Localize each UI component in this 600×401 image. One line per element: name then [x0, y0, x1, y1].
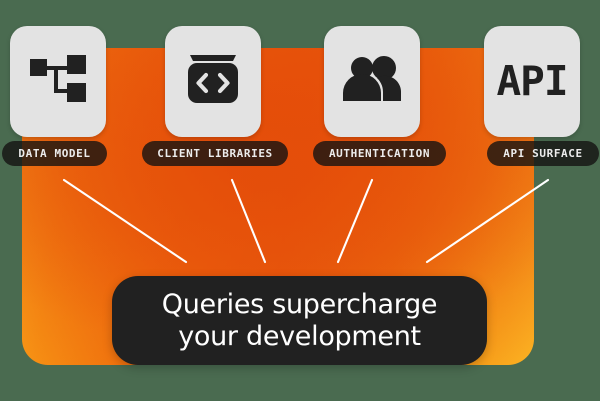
feature-label-api-surface[interactable]: API SURFACE — [487, 141, 599, 166]
feature-label-text: CLIENT LIBRARIES — [157, 147, 273, 160]
headline-card: Queries supercharge your development — [112, 276, 487, 365]
feature-label-text: DATA MODEL — [18, 147, 90, 160]
feature-label-data-model[interactable]: DATA MODEL — [2, 141, 107, 166]
connector-line-api-surface — [427, 180, 548, 262]
connector-line-authentication — [338, 180, 372, 262]
node-graph-icon — [30, 53, 86, 110]
feature-card-api-surface[interactable]: API — [484, 26, 580, 137]
feature-card-authentication[interactable] — [324, 26, 420, 137]
headline-line-2: your development — [178, 321, 421, 352]
feature-label-client-libraries[interactable]: CLIENT LIBRARIES — [142, 141, 288, 166]
diagram-canvas: API DATA MODEL CLIENT LIBRARIES AUTHENTI… — [0, 0, 600, 401]
api-text-icon: API — [496, 61, 567, 102]
headline-line-1: Queries supercharge — [162, 289, 437, 320]
headline-text: Queries supercharge your development — [148, 289, 451, 353]
code-book-icon — [186, 53, 240, 110]
feature-label-text: API SURFACE — [503, 147, 582, 160]
users-icon — [341, 55, 403, 108]
connector-line-data-model — [64, 180, 186, 262]
feature-card-data-model[interactable] — [10, 26, 106, 137]
feature-label-authentication[interactable]: AUTHENTICATION — [313, 141, 446, 166]
feature-card-client-libraries[interactable] — [165, 26, 261, 137]
feature-label-text: AUTHENTICATION — [329, 147, 430, 160]
connector-line-client-libraries — [232, 180, 265, 262]
